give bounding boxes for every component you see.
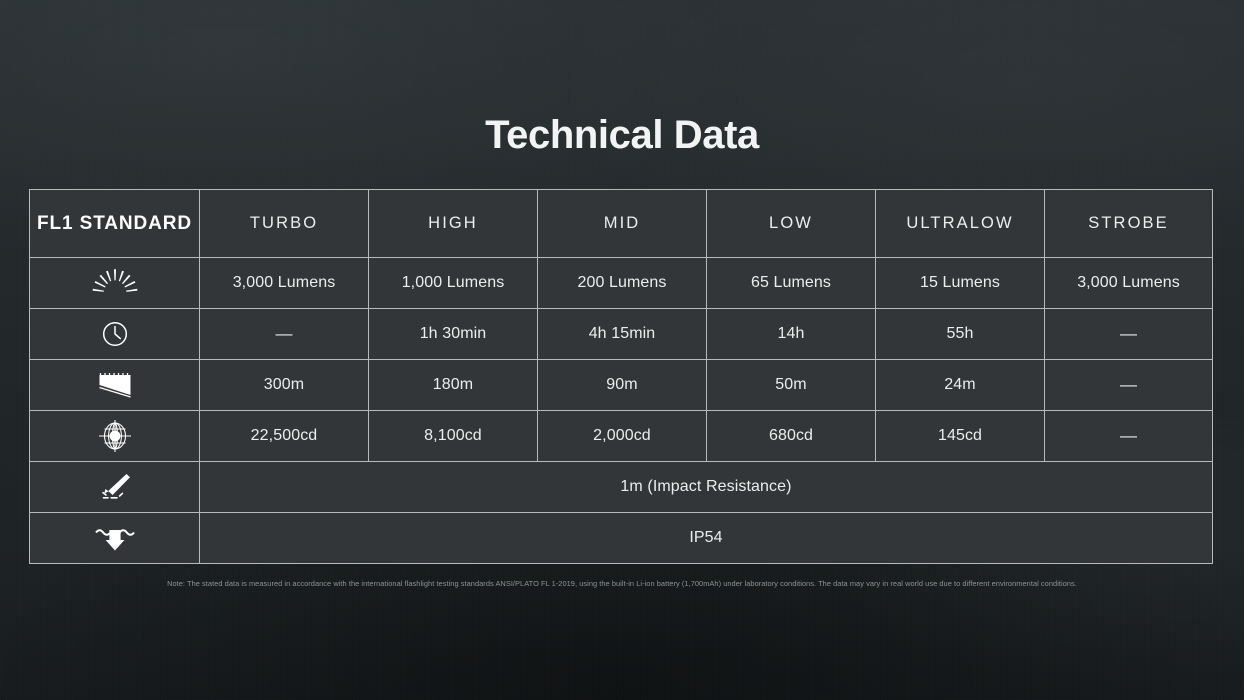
cell-lumens-ultralow: 15 Lumens xyxy=(876,258,1045,309)
cell-distance-high: 180m xyxy=(369,360,538,411)
cell-candela-low: 680cd xyxy=(707,411,876,462)
row-label-impact-resistance xyxy=(30,462,200,513)
cell-runtime-mid: 4h 15min xyxy=(538,309,707,360)
technical-data-page: Technical Data FL1 STANDARD TURBO HIGH M… xyxy=(0,0,1244,700)
header-cell-ultralow: ULTRALOW xyxy=(876,190,1045,258)
row-label-water-resistance xyxy=(30,513,200,564)
peak-beam-intensity-icon xyxy=(30,411,199,461)
cell-candela-mid: 2,000cd xyxy=(538,411,707,462)
cell-candela-strobe: — xyxy=(1045,411,1213,462)
table-row-water-resistance: IP54 xyxy=(30,513,1213,564)
beam-distance-icon xyxy=(30,360,199,410)
cell-runtime-strobe: — xyxy=(1045,309,1213,360)
header-cell-high: HIGH xyxy=(369,190,538,258)
cell-lumens-strobe: 3,000 Lumens xyxy=(1045,258,1213,309)
header-cell-low: LOW xyxy=(707,190,876,258)
table-row-lumens: 3,000 Lumens 1,000 Lumens 200 Lumens 65 … xyxy=(30,258,1213,309)
cell-distance-ultralow: 24m xyxy=(876,360,1045,411)
impact-resistance-icon xyxy=(30,462,199,512)
cell-candela-turbo: 22,500cd xyxy=(200,411,369,462)
table-row-peak-beam-intensity: 22,500cd 8,100cd 2,000cd 680cd 145cd — xyxy=(30,411,1213,462)
cell-lumens-turbo: 3,000 Lumens xyxy=(200,258,369,309)
cell-runtime-low: 14h xyxy=(707,309,876,360)
table-row-impact-resistance: 1m (Impact Resistance) xyxy=(30,462,1213,513)
row-label-lumens xyxy=(30,258,200,309)
table-row-beam-distance: 300m 180m 90m 50m 24m — xyxy=(30,360,1213,411)
table-header-row: FL1 STANDARD TURBO HIGH MID LOW ULTRALOW… xyxy=(30,190,1213,258)
header-cell-turbo: TURBO xyxy=(200,190,369,258)
technical-data-table: FL1 STANDARD TURBO HIGH MID LOW ULTRALOW… xyxy=(29,189,1213,564)
cell-impact-resistance-value: 1m (Impact Resistance) xyxy=(200,462,1213,513)
table-row-runtime: — 1h 30min 4h 15min 14h 55h — xyxy=(30,309,1213,360)
technical-data-table-wrapper: FL1 STANDARD TURBO HIGH MID LOW ULTRALOW… xyxy=(29,189,1212,564)
cell-candela-high: 8,100cd xyxy=(369,411,538,462)
cell-lumens-low: 65 Lumens xyxy=(707,258,876,309)
row-label-beam-distance xyxy=(30,360,200,411)
cell-distance-strobe: — xyxy=(1045,360,1213,411)
cell-lumens-mid: 200 Lumens xyxy=(538,258,707,309)
cell-distance-turbo: 300m xyxy=(200,360,369,411)
header-cell-mid: MID xyxy=(538,190,707,258)
water-resistance-icon xyxy=(30,513,199,563)
cell-runtime-ultralow: 55h xyxy=(876,309,1045,360)
cell-candela-ultralow: 145cd xyxy=(876,411,1045,462)
cell-runtime-high: 1h 30min xyxy=(369,309,538,360)
lumens-sunburst-icon xyxy=(30,258,199,308)
cell-distance-low: 50m xyxy=(707,360,876,411)
header-cell-fl1-standard: FL1 STANDARD xyxy=(30,190,200,258)
cell-runtime-turbo: — xyxy=(200,309,369,360)
cell-water-resistance-value: IP54 xyxy=(200,513,1213,564)
row-label-peak-beam-intensity xyxy=(30,411,200,462)
row-label-runtime xyxy=(30,309,200,360)
page-title: Technical Data xyxy=(0,108,1244,162)
header-cell-strobe: STROBE xyxy=(1045,190,1213,258)
cell-lumens-high: 1,000 Lumens xyxy=(369,258,538,309)
cell-distance-mid: 90m xyxy=(538,360,707,411)
footnote-text: Note: The stated data is measured in acc… xyxy=(0,578,1244,589)
runtime-clock-icon xyxy=(30,309,199,359)
